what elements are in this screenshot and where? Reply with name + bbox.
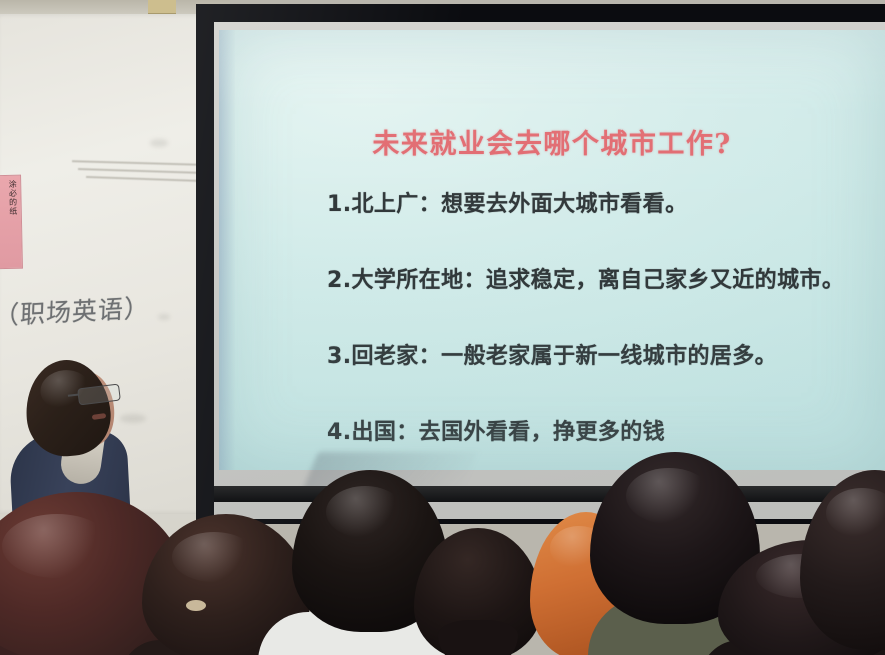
slide-bullet-1: 1.北上广：想要去外面大城市看看。 [327,186,877,218]
whiteboard-erase-streak [78,168,204,174]
slide-bullet-2: 2.大学所在地：追求稳定，离自己家乡又近的城市。 [327,262,877,294]
notice-text: 涂必的纸 [6,180,19,216]
whiteboard-smudge [150,139,168,147]
slide-title: 未来就业会去哪个城市工作? [219,122,885,161]
slide-bullet-3: 3.回老家：一般老家属于新一线城市的居多。 [327,338,877,370]
student-ponytail [438,620,518,655]
hair-highlight [826,488,885,538]
hair-highlight [326,486,404,538]
presentation-slide: 未来就业会去哪个城市工作? 1.北上广：想要去外面大城市看看。 2.大学所在地：… [219,30,885,470]
hair-highlight [172,532,256,582]
slide-bullet-list: 1.北上广：想要去外面大城市看看。 2.大学所在地：追求稳定，离自己家乡又近的城… [327,186,877,446]
slide-bullet-4: 4.出国：去国外看看，挣更多的钱 [327,414,877,446]
student-hair-tie [186,600,206,611]
hair-highlight [626,468,712,524]
pink-notice-poster: 涂必的纸 [0,175,23,270]
hair-highlight [2,514,112,578]
whiteboard-erase-streak [72,160,202,166]
classroom-photo: 涂必的纸 （职场英语） 未来就业会去哪个城市工作? 1.北上广：想要去外面大城市… [0,0,885,655]
slide-left-light-band [219,30,235,470]
ceiling-fixture [148,0,176,14]
whiteboard-erase-streak [86,176,204,182]
whiteboard-smudge [120,414,146,423]
